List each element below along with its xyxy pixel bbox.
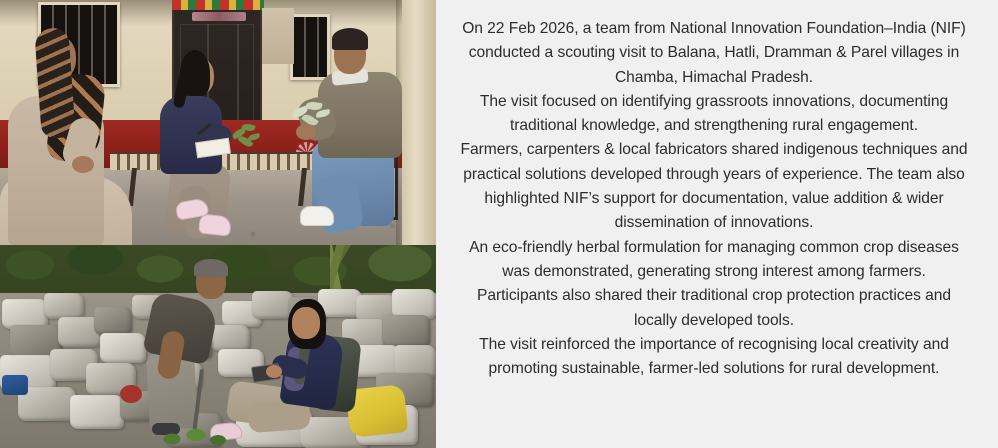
slide-canvas: On 22 Feb 2026, a team from National Inn… <box>0 0 998 448</box>
blue-tool <box>2 375 28 395</box>
stone <box>100 333 146 363</box>
verandah-pillar <box>402 0 436 245</box>
caption-panel: On 22 Feb 2026, a team from National Inn… <box>436 0 998 448</box>
plant-sample-left-icon <box>228 120 264 156</box>
photo-column <box>0 0 436 448</box>
person-man-shoe <box>300 206 334 226</box>
stone <box>94 307 132 335</box>
photo-top-verandah-meeting <box>0 0 436 245</box>
wall-poster <box>262 8 294 64</box>
stone <box>210 325 250 351</box>
person-woman-seated-hand <box>266 365 282 378</box>
photo-bottom-scene <box>0 245 436 448</box>
door-nameplate <box>192 12 246 21</box>
plant-sample-right-icon <box>290 100 332 134</box>
person-man-bending-hair <box>194 259 228 277</box>
stone <box>382 315 430 347</box>
photo-top-scene <box>0 0 436 245</box>
festive-bunting <box>172 0 264 10</box>
window-right <box>290 14 330 80</box>
person-woman-seated-head <box>292 307 320 339</box>
window-bars-icon <box>293 17 327 77</box>
stone <box>44 293 84 319</box>
person-woman-left-hand <box>72 156 94 173</box>
photo-bottom-stone-site <box>0 245 436 448</box>
red-object <box>120 385 142 403</box>
person-man-hair <box>332 28 368 50</box>
caption-text: On 22 Feb 2026, a team from National Inn… <box>460 17 968 381</box>
green-shrub <box>160 427 230 448</box>
stone <box>70 395 124 429</box>
